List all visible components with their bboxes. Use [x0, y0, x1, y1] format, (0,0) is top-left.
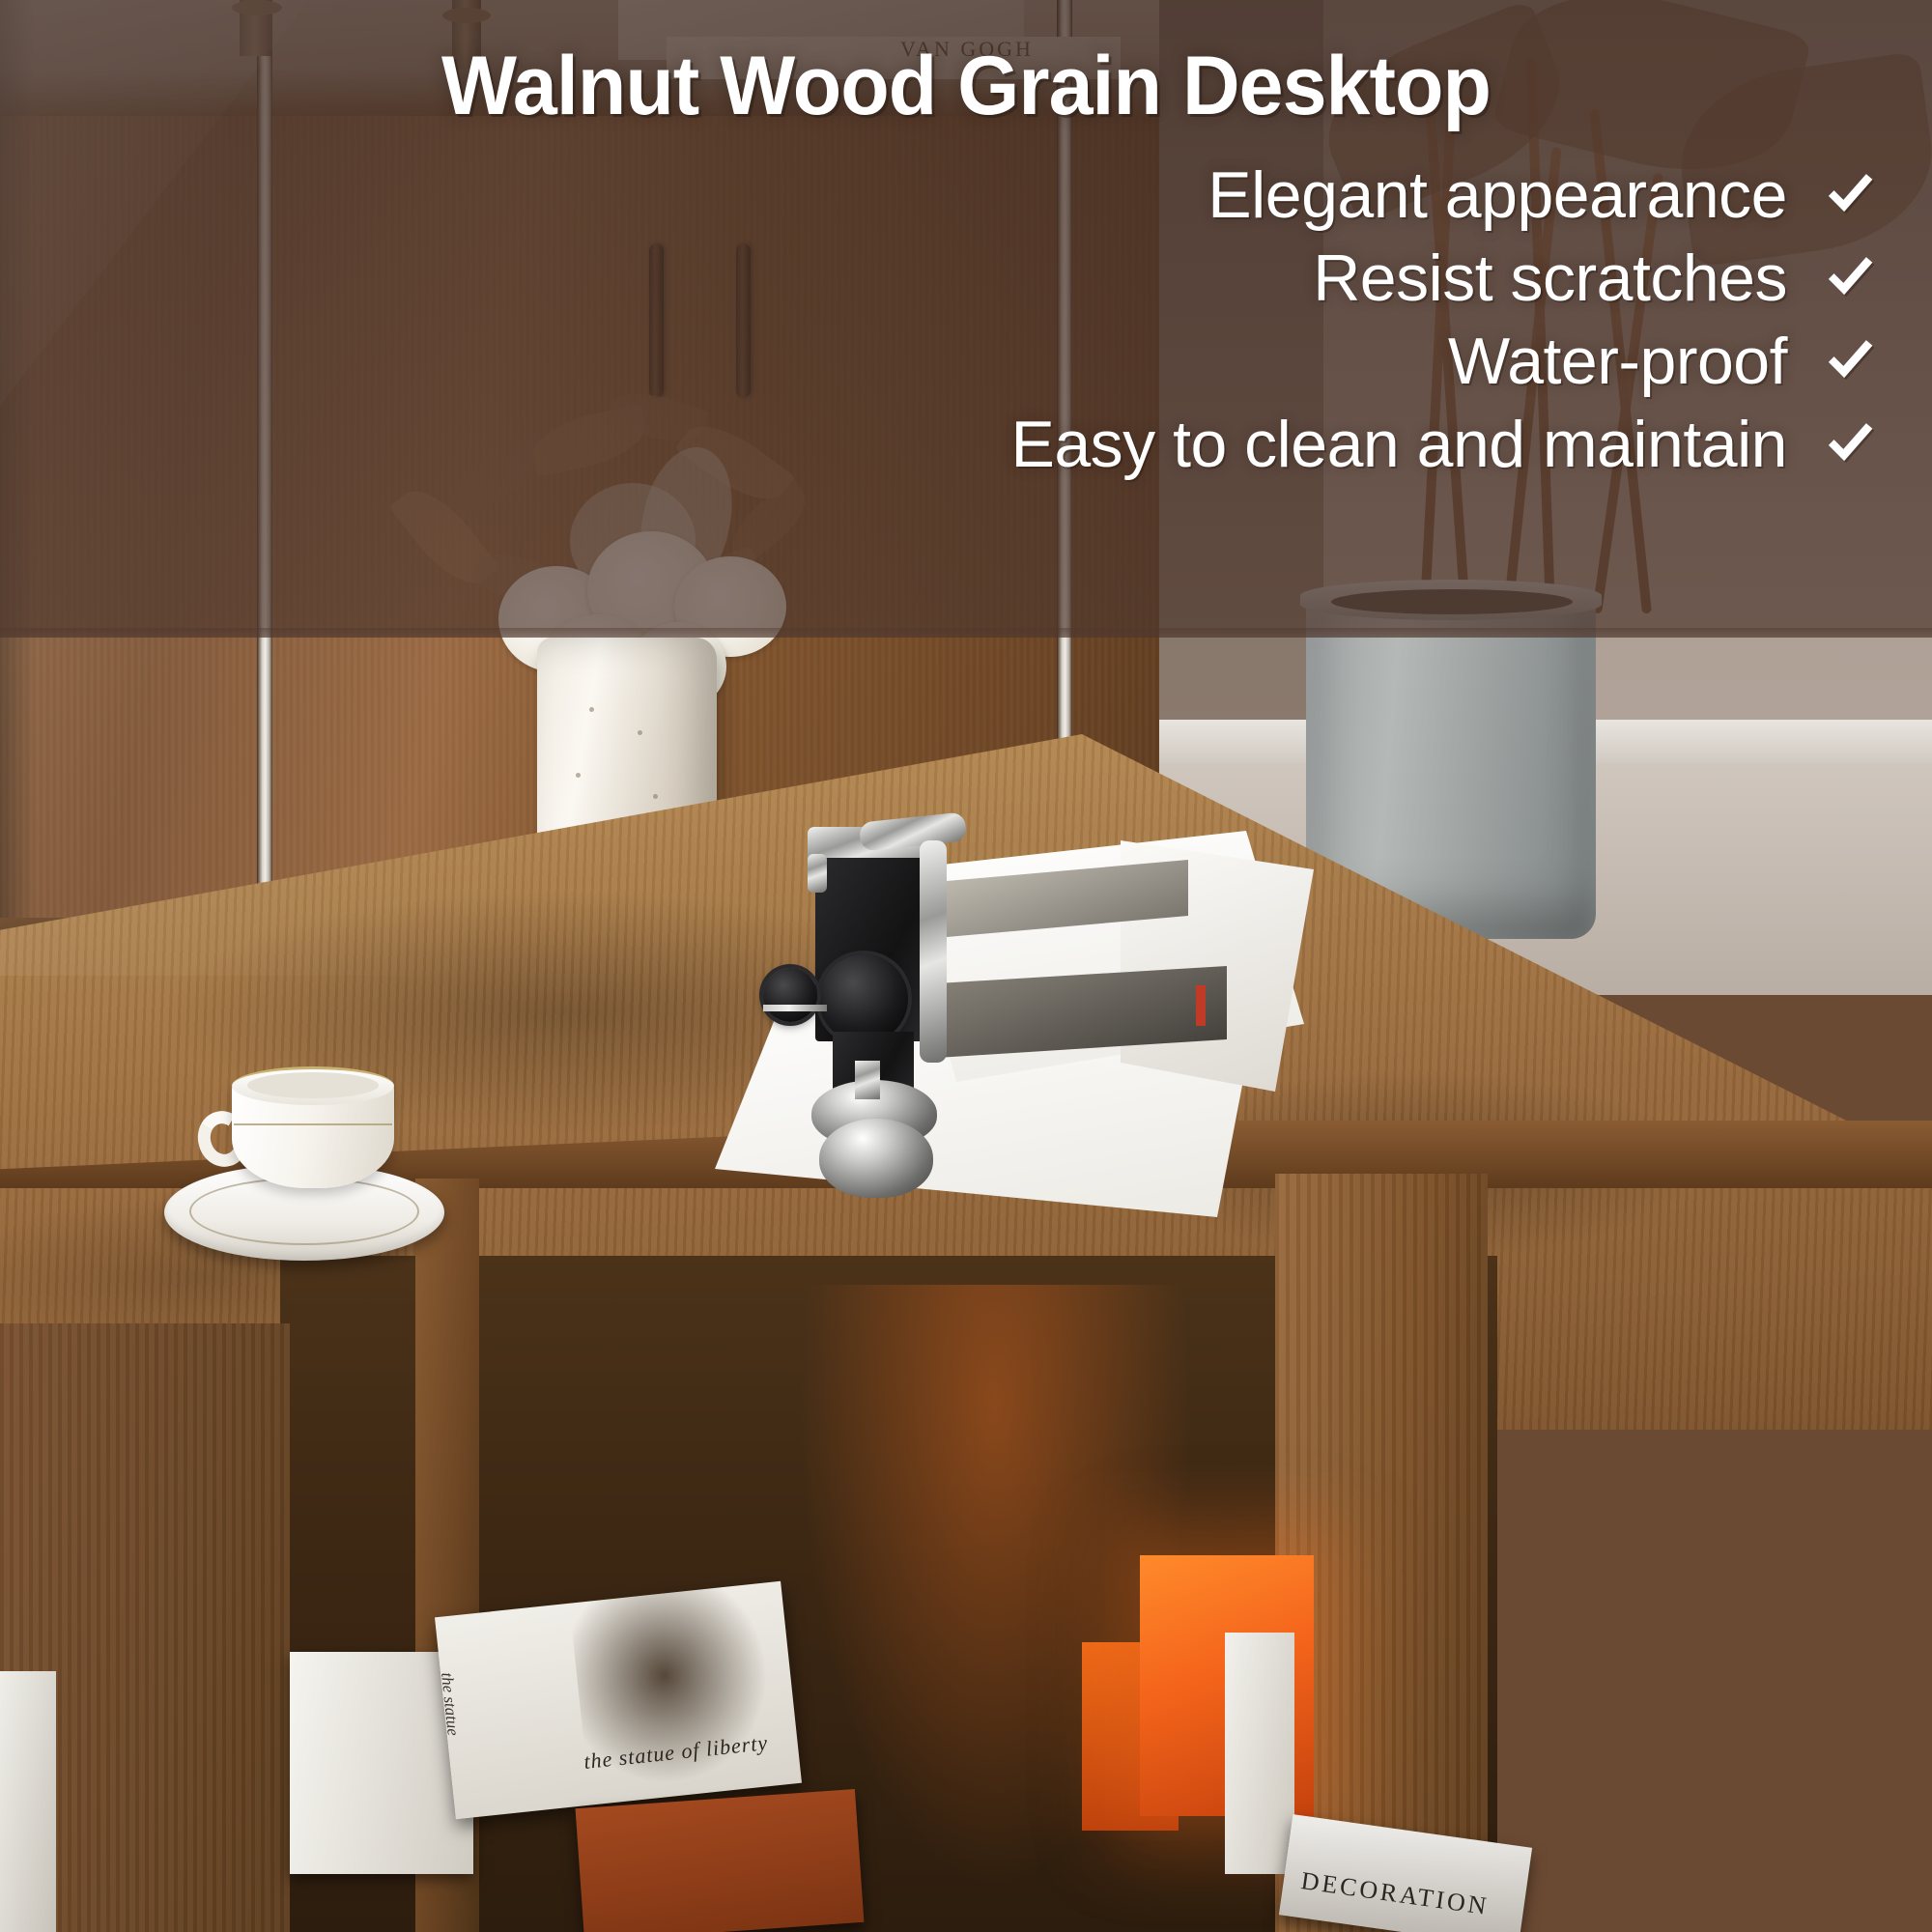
cup-gold-band — [234, 1123, 392, 1125]
shelf-item-white — [1225, 1633, 1294, 1874]
check-icon — [1824, 336, 1874, 386]
check-icon — [1824, 253, 1874, 303]
page-title: Walnut Wood Grain Desktop — [39, 43, 1893, 129]
feature-label: Water-proof — [1448, 328, 1787, 394]
feature-label: Resist scratches — [1313, 245, 1787, 311]
feature-item-resist-scratches: Resist scratches — [1313, 245, 1874, 311]
feature-list: Elegant appearance Resist scratches Wate… — [0, 162, 1874, 477]
check-icon — [1824, 170, 1874, 220]
feature-item-easy-to-clean: Easy to clean and maintain — [1011, 412, 1875, 477]
book-spine-decoration-text: DECORATION — [1299, 1866, 1491, 1921]
cup-interior — [247, 1072, 379, 1098]
check-icon — [1824, 419, 1874, 469]
shelf-book-liberty: the statue of liberty the statue — [435, 1581, 802, 1819]
feature-item-water-proof: Water-proof — [1448, 328, 1874, 394]
feature-label: Easy to clean and maintain — [1011, 412, 1788, 477]
feature-item-elegant-appearance: Elegant appearance — [1207, 162, 1874, 228]
shelf-book-brown — [576, 1789, 865, 1932]
feature-label: Elegant appearance — [1207, 162, 1787, 228]
shelf-item-white — [0, 1671, 56, 1932]
product-banner: VAN GOGH — [0, 0, 1932, 1932]
